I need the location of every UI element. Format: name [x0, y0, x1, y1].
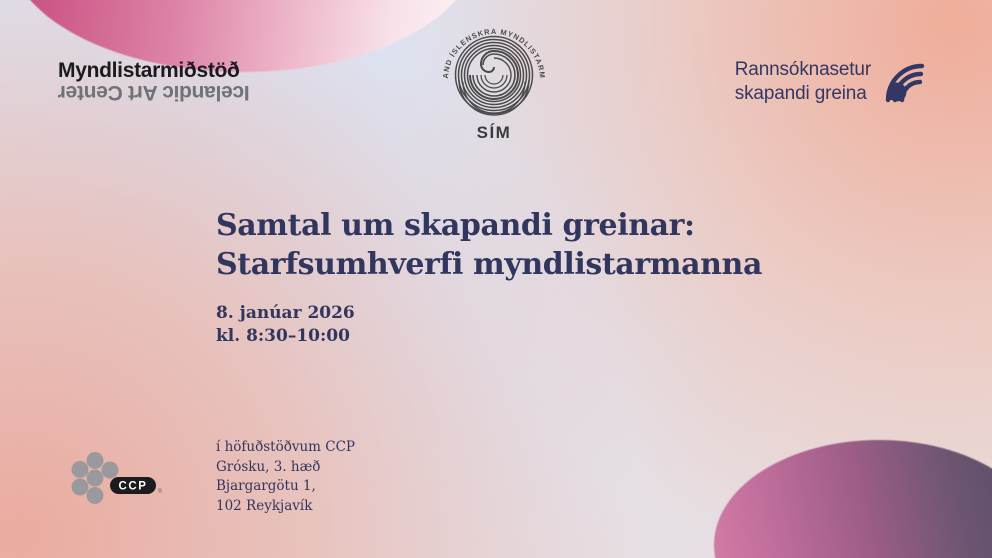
event-poster: Myndlistarmiðstöð Icelandic Art Center	[0, 0, 992, 558]
logo-iac-line2-mirrored: Icelandic Art Center	[58, 82, 250, 103]
event-datetime: 8. janúar 2026 kl. 8:30–10:00	[216, 302, 762, 349]
page-title: Samtal um skapandi greinar: Starfsumhver…	[216, 206, 762, 284]
decorative-blob-bottom-right	[714, 440, 992, 558]
sim-abbreviation: SÍM	[477, 123, 512, 142]
logo-iac-line1: Myndlistarmiðstöð	[58, 60, 250, 81]
logo-icelandic-art-center: Myndlistarmiðstöð Icelandic Art Center	[58, 60, 250, 103]
ccp-circle-cluster-icon	[72, 452, 119, 504]
ccp-trademark: ®	[158, 488, 163, 495]
event-main-text: Samtal um skapandi greinar: Starfsumhver…	[216, 206, 762, 349]
logo-rannsoknasetur: Rannsóknasetur skapandi greina	[735, 58, 930, 107]
radiating-arcs-icon	[884, 60, 930, 104]
event-venue: í höfuðstöðvum CCP Grósku, 3. hæð Bjarga…	[216, 438, 355, 517]
logo-sim: SAMBAND ÍSLENSKRA MYNDLISTARMANNA SÍM	[432, 18, 556, 142]
logo-rsg-line2: skapandi greina	[735, 82, 871, 106]
sim-spiral-icon	[456, 37, 533, 116]
logo-ccp: CCP ®	[66, 452, 164, 510]
logo-rsg-text: Rannsóknasetur skapandi greina	[735, 58, 871, 107]
logo-row: Myndlistarmiðstöð Icelandic Art Center	[0, 0, 992, 150]
ccp-wordmark: CCP	[118, 480, 147, 492]
logo-rsg-line1: Rannsóknasetur	[735, 58, 871, 82]
